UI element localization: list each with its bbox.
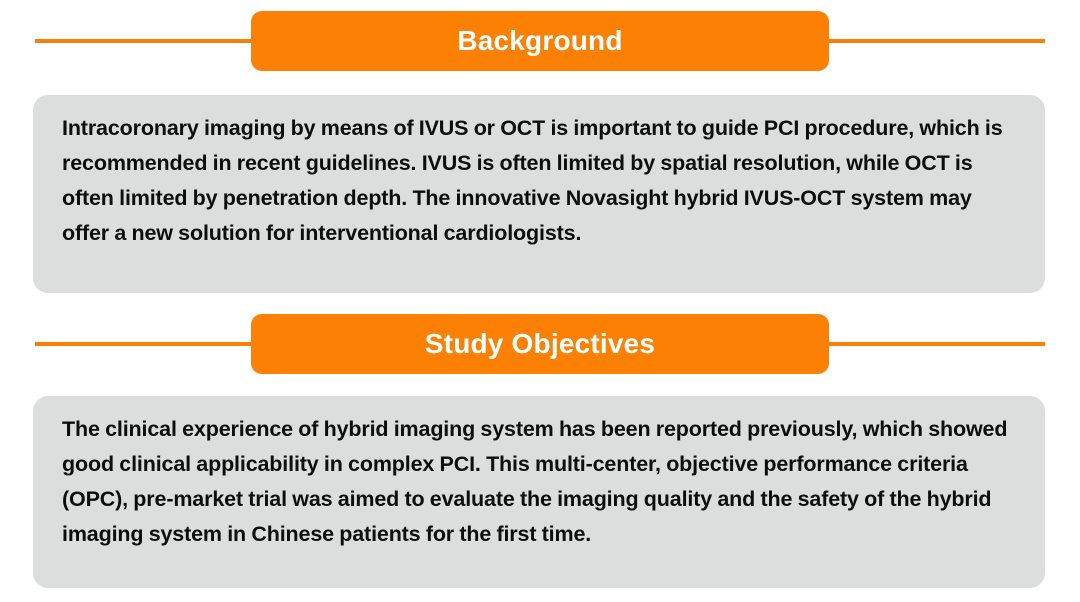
slide-canvas: Background Intracoronary imaging by mean… (0, 0, 1080, 602)
header-rule-right-study-objectives (820, 342, 1045, 346)
section-body-study-objectives: The clinical experience of hybrid imagin… (62, 412, 1015, 552)
content-card-study-objectives: The clinical experience of hybrid imagin… (33, 396, 1045, 588)
section-header-study-objectives: Study Objectives (0, 311, 1080, 377)
section-title-study-objectives: Study Objectives (425, 330, 655, 358)
section-header-background: Background (0, 8, 1080, 74)
section-title-background: Background (457, 27, 622, 55)
header-rule-left-study-objectives (35, 342, 260, 346)
section-title-pill-background: Background (251, 11, 829, 71)
content-card-background: Intracoronary imaging by means of IVUS o… (33, 95, 1045, 293)
section-body-background: Intracoronary imaging by means of IVUS o… (62, 111, 1015, 251)
header-rule-left-background (35, 39, 260, 43)
section-title-pill-study-objectives: Study Objectives (251, 314, 829, 374)
header-rule-right-background (820, 39, 1045, 43)
